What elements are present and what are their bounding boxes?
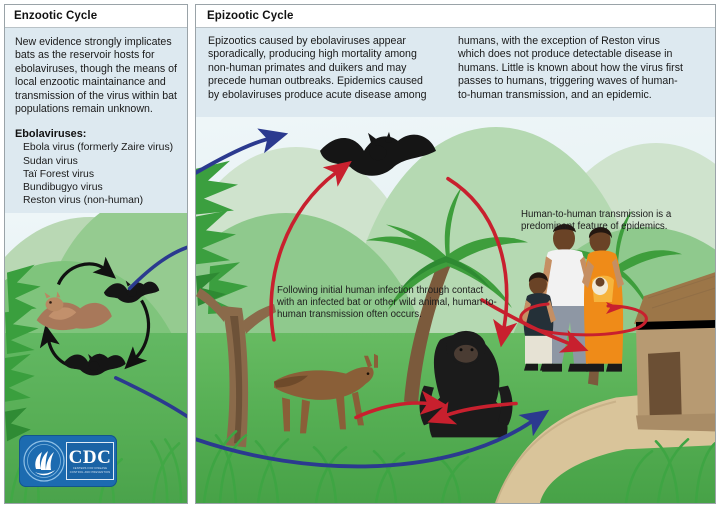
cdc-text: CDC xyxy=(69,448,112,467)
enzootic-text-block: New evidence strongly implicates bats as… xyxy=(5,28,187,207)
grass-foreground xyxy=(196,333,715,503)
epizootic-illustration: Human-to-human transmission is a predomi… xyxy=(196,117,715,503)
list-item: Reston virus (non-human) xyxy=(15,194,177,207)
list-item: Ebola virus (formerly Zaire virus) xyxy=(15,141,177,154)
ebolaviruses-list: Ebola virus (formerly Zaire virus) Sudan… xyxy=(15,141,177,207)
cdc-wordmark: CDC CENTERS FOR DISEASE CONTROL AND PREV… xyxy=(66,442,114,480)
epizootic-column-right: humans, with the exception of Reston vir… xyxy=(458,35,686,102)
enzootic-panel: Enzootic Cycle New evidence strongly imp… xyxy=(4,4,188,504)
enzootic-panel-header: Enzootic Cycle xyxy=(5,5,187,28)
cdc-logo: CDC CENTERS FOR DISEASE CONTROL AND PREV… xyxy=(19,435,117,487)
ebolaviruses-list-title: Ebolaviruses: xyxy=(15,128,177,140)
enzootic-paragraph: New evidence strongly implicates bats as… xyxy=(15,36,177,116)
list-item: Bundibugyo virus xyxy=(15,181,177,194)
hhs-seal-icon xyxy=(22,439,66,483)
epizootic-paragraph-left: Epizootics caused by ebolaviruses appear… xyxy=(208,35,436,102)
list-item: Taï Forest virus xyxy=(15,168,177,181)
epizootic-panel-header: Epizootic Cycle xyxy=(196,5,715,28)
epizootic-panel: Epizootic Cycle Epizootics caused by ebo… xyxy=(195,4,716,504)
list-item: Sudan virus xyxy=(15,155,177,168)
epizootic-column-left: Epizootics caused by ebolaviruses appear… xyxy=(208,35,436,102)
enzootic-illustration: CDC CENTERS FOR DISEASE CONTROL AND PREV… xyxy=(5,213,187,503)
epizootic-text-block: Epizootics caused by ebolaviruses appear… xyxy=(196,28,715,102)
cdc-subtitle-line2: CONTROL AND PREVENTION xyxy=(70,471,111,474)
human-to-human-note: Human-to-human transmission is a predomi… xyxy=(521,209,711,233)
human-to-human-note-text: Human-to-human transmission is a predomi… xyxy=(521,209,711,233)
enzootic-title: Enzootic Cycle xyxy=(14,10,187,22)
epizootic-title: Epizootic Cycle xyxy=(207,10,715,22)
initial-infection-note: Following initial human infection throug… xyxy=(277,285,499,322)
initial-infection-note-text: Following initial human infection throug… xyxy=(277,285,499,322)
poster-root: Enzootic Cycle New evidence strongly imp… xyxy=(0,0,720,508)
epizootic-paragraph-right: humans, with the exception of Reston vir… xyxy=(458,35,686,102)
